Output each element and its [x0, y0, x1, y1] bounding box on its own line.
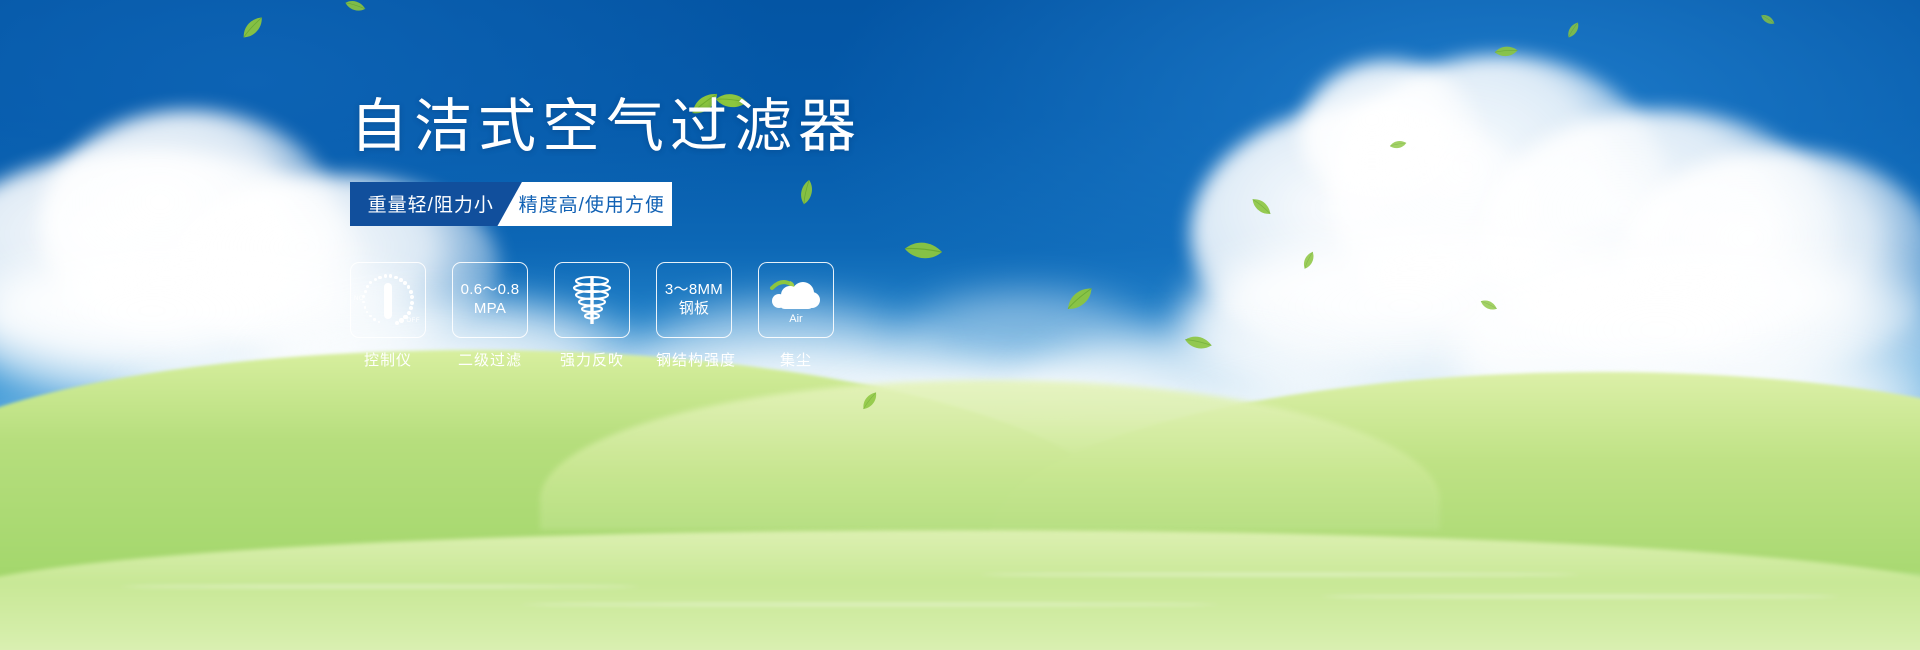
grass-streak — [980, 573, 1580, 576]
tagline-primary: 重量轻/阻力小 — [350, 182, 523, 226]
feature-icon-box: Air — [758, 262, 834, 338]
dial-tick — [389, 274, 392, 277]
feature-list: NO OFF 控制仪 0.6～0.8 MPA 二级过滤 — [350, 262, 1050, 370]
tagline-secondary: 精度高/使用方便 — [497, 182, 672, 226]
dial-tick — [369, 281, 372, 284]
feature-item[interactable]: 强力反吹 — [554, 262, 630, 370]
grass-streak — [120, 585, 640, 588]
feature-label: 钢结构强度 — [656, 349, 732, 370]
dial-tick — [384, 274, 387, 277]
hero-banner: 自洁式空气过滤器 重量轻/阻力小 精度高/使用方便 NO OFF 控制仪 — [0, 0, 1920, 650]
dial-tick — [410, 295, 414, 299]
feature-label: 二级过滤 — [452, 349, 528, 370]
dial-tick — [395, 321, 400, 326]
feature-label: 控制仪 — [350, 349, 426, 370]
banner-content: 自洁式空气过滤器 重量轻/阻力小 精度高/使用方便 NO OFF 控制仪 — [350, 95, 1050, 370]
dial-tick — [403, 281, 407, 285]
grass-streak — [1320, 595, 1840, 598]
dial-tick — [407, 311, 411, 315]
dial-tick — [364, 290, 367, 293]
dial-tick — [366, 311, 368, 313]
feature-item[interactable]: NO OFF 控制仪 — [350, 262, 426, 370]
dial-tick — [399, 278, 403, 282]
dial-tick — [378, 321, 380, 323]
grass-streak — [520, 603, 1220, 606]
feature-label: 集尘 — [758, 349, 834, 370]
pressure-text-icon: 0.6～0.8 MPA — [461, 281, 520, 319]
dial-tick — [362, 301, 365, 304]
dial-tick — [407, 285, 411, 289]
filter-cartridge-icon — [569, 274, 615, 326]
steel-plate-text-icon: 3～8MM 钢板 — [665, 281, 723, 319]
feature-item[interactable]: Air 集尘 — [758, 262, 834, 370]
dial-tick — [394, 276, 398, 280]
feature-item[interactable]: 3～8MM 钢板 钢结构强度 — [656, 262, 732, 370]
feature-item[interactable]: 0.6～0.8 MPA 二级过滤 — [452, 262, 528, 370]
page-title: 自洁式空气过滤器 — [350, 95, 1050, 160]
dial-label-off: OFF — [407, 318, 421, 324]
dial-tick — [369, 315, 371, 317]
air-cloud-icon: Air — [766, 272, 826, 328]
dial-tick — [378, 276, 381, 279]
air-label: Air — [789, 313, 803, 325]
grass-field — [0, 420, 1920, 650]
dial-tick — [364, 306, 367, 309]
dial-tick — [410, 301, 414, 305]
dial-tick — [366, 285, 369, 288]
dial-pointer — [384, 283, 392, 319]
dial-tick — [373, 318, 375, 320]
grass-foreground — [0, 530, 1920, 650]
feature-icon-box: 3～8MM 钢板 — [656, 262, 732, 338]
dial-tick — [409, 290, 413, 294]
dial-tick — [374, 278, 377, 281]
dial-tick — [399, 318, 404, 323]
feature-icon-box — [554, 262, 630, 338]
feature-icon-box: NO OFF — [350, 262, 426, 338]
feature-icon-box: 0.6～0.8 MPA — [452, 262, 528, 338]
dial-tick — [362, 295, 365, 298]
cloud — [1300, 60, 1480, 210]
dial-tick — [409, 306, 413, 310]
control-dial-icon: NO OFF — [358, 270, 418, 330]
feature-label: 强力反吹 — [554, 349, 630, 370]
tagline-row: 重量轻/阻力小 精度高/使用方便 — [350, 182, 672, 226]
